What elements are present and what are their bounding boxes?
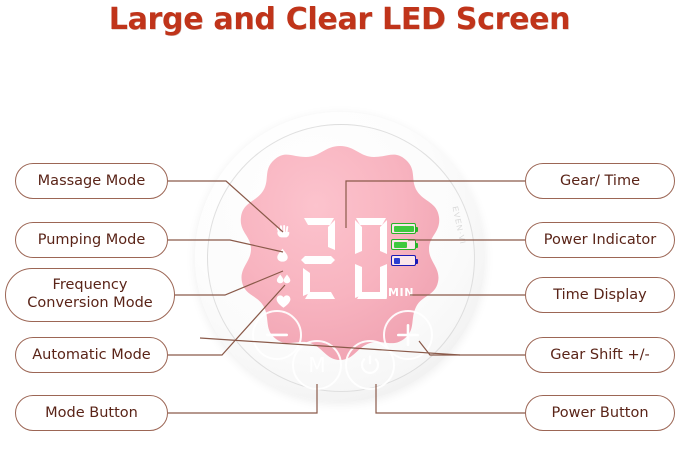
- callout-label: Gear Shift +/-: [550, 347, 649, 364]
- callout-label: Mode Button: [45, 405, 138, 422]
- breast-pump-device: EVEN·VI: [195, 112, 485, 402]
- callout-label: Automatic Mode: [32, 347, 150, 364]
- callout-gear-time[interactable]: Gear/ Time: [525, 163, 675, 199]
- min-label: MIN: [388, 286, 414, 299]
- callout-gear-shift[interactable]: Gear Shift +/-: [525, 337, 675, 373]
- callout-label-line1: Frequency: [53, 277, 128, 295]
- mode-button-label: M: [308, 353, 325, 377]
- segment-display: [298, 214, 394, 306]
- callout-label: Gear/ Time: [560, 173, 640, 190]
- plus-icon: [397, 324, 419, 346]
- callout-label: Pumping Mode: [38, 232, 146, 249]
- battery-low-icon: [391, 255, 416, 266]
- droplet-mode-icon: [276, 248, 294, 267]
- callout-massage-mode[interactable]: Massage Mode: [15, 163, 168, 199]
- callout-mode-button[interactable]: Mode Button: [15, 395, 168, 431]
- callout-pumping-mode[interactable]: Pumping Mode: [15, 222, 168, 258]
- infographic-canvas: Large and Clear LED Screen EVEN·VI: [0, 0, 679, 456]
- callout-label-line2: Conversion Mode: [27, 295, 152, 313]
- battery-indicator: [391, 223, 427, 271]
- callout-frequency-conversion-mode[interactable]: Frequency Conversion Mode: [5, 268, 175, 322]
- callout-label: Power Button: [551, 405, 648, 422]
- battery-full-icon: [391, 223, 416, 234]
- mode-icon-group: [276, 224, 294, 318]
- callout-power-button[interactable]: Power Button: [525, 395, 675, 431]
- callout-time-display[interactable]: Time Display: [525, 277, 675, 313]
- power-icon: [359, 354, 381, 376]
- callout-label: Time Display: [553, 287, 647, 304]
- mode-button[interactable]: M: [292, 340, 342, 390]
- battery-medium-icon: [391, 239, 416, 250]
- minus-icon: [266, 333, 288, 337]
- double-droplet-mode-icon: [276, 272, 294, 290]
- callout-label: Massage Mode: [38, 173, 146, 190]
- callout-automatic-mode[interactable]: Automatic Mode: [15, 337, 168, 373]
- power-button[interactable]: [345, 340, 395, 390]
- callout-power-indicator[interactable]: Power Indicator: [525, 222, 675, 258]
- hand-mode-icon: [276, 224, 294, 243]
- page-title: Large and Clear LED Screen: [0, 2, 679, 37]
- callout-label: Power Indicator: [544, 232, 657, 249]
